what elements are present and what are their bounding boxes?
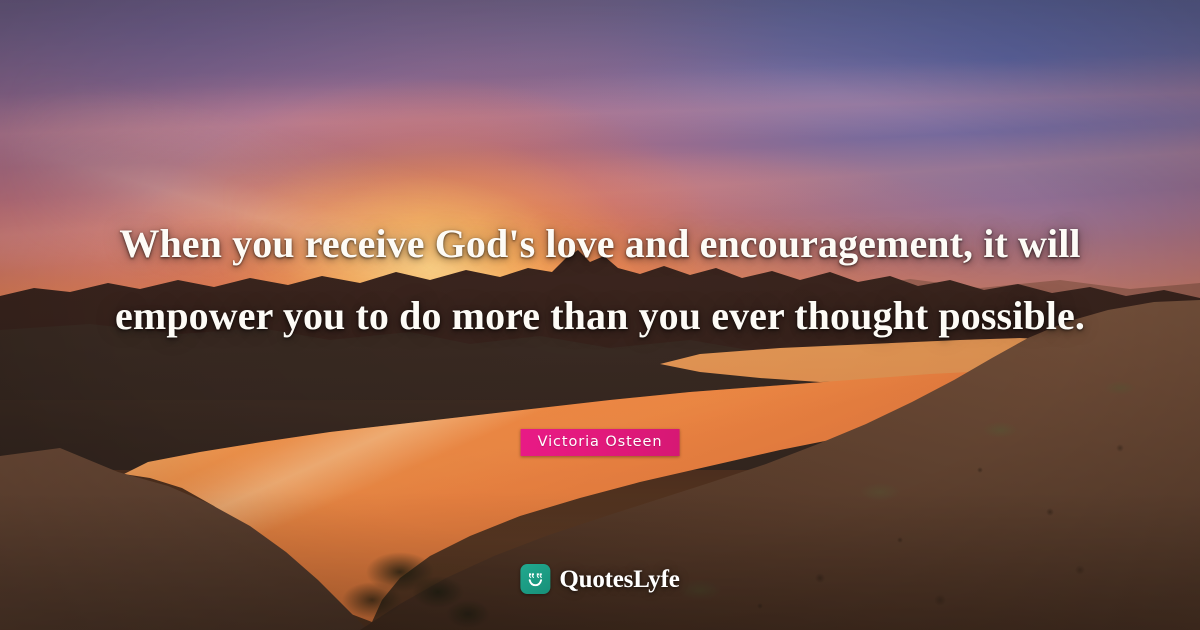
quote-card: When you receive God's love and encourag…	[0, 0, 1200, 630]
brand-wordmark: QuotesLyfe	[559, 567, 679, 592]
quote-smiley-icon	[520, 564, 550, 594]
card-content: When you receive God's love and encourag…	[0, 0, 1200, 630]
brand-logo[interactable]: QuotesLyfe	[520, 564, 679, 594]
quote-text: When you receive God's love and encourag…	[95, 208, 1105, 352]
author-badge: Victoria Osteen	[521, 429, 680, 456]
